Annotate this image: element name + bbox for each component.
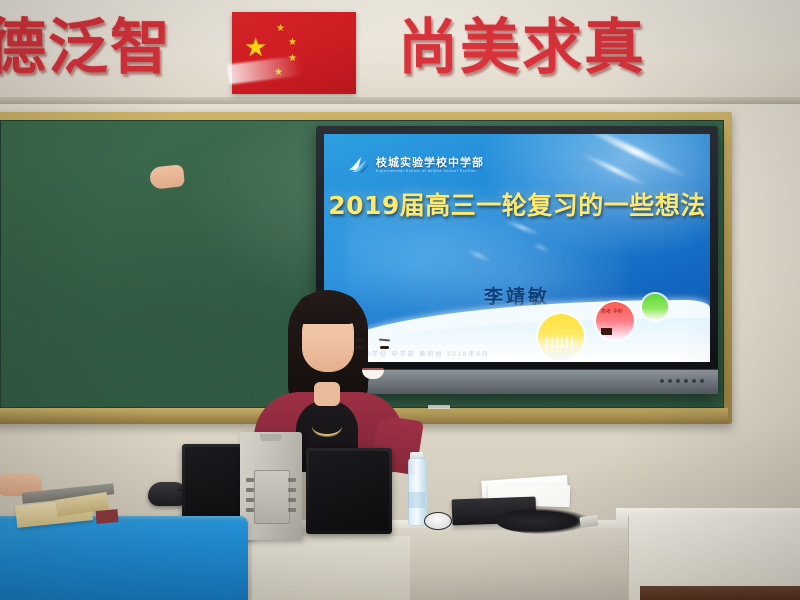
school-name-cn: 枝城实验学校中学部	[376, 157, 484, 168]
tower-vent	[246, 508, 254, 512]
necklace	[312, 416, 342, 436]
floor-strip	[640, 586, 800, 600]
slide-bubble-green	[642, 294, 668, 320]
school-name-en: Experimental School of Middle School Sec…	[376, 170, 484, 174]
bubble-red-text: 高考 冲刺	[601, 309, 623, 316]
tower-vent	[288, 478, 296, 482]
slide-title: 2019届高三一轮复习的一些想法	[324, 186, 710, 222]
slide-bubble-red: 高考 冲刺	[596, 302, 634, 340]
slide-bubble-yellow	[538, 314, 584, 360]
tower-vent	[288, 488, 296, 492]
flag-glare	[227, 56, 303, 85]
smartboard-button[interactable]	[700, 379, 704, 383]
hair-bangs	[296, 294, 360, 324]
tower-vent	[288, 498, 296, 502]
red-object	[95, 509, 118, 524]
flag-star-small-1: ★	[276, 24, 285, 34]
bubble-red-block	[601, 328, 612, 335]
flag-star-large: ★	[244, 34, 267, 60]
smartboard-button-row[interactable]	[660, 379, 704, 383]
tower-vent	[246, 488, 254, 492]
bottle-label	[408, 492, 425, 508]
eye-left	[355, 346, 364, 349]
classroom-photo: 德泛智 ★ ★ ★ ★ ★ 尚美求真	[0, 0, 800, 600]
monitor-right[interactable]	[306, 448, 392, 534]
tower-vent	[246, 478, 254, 482]
screen-glare	[580, 134, 689, 181]
blue-cabinet	[0, 520, 248, 600]
tower-vent	[288, 508, 296, 512]
right-hand	[149, 164, 185, 189]
smartboard-button[interactable]	[668, 379, 672, 383]
wall-slogan-left: 德泛智	[0, 18, 172, 78]
eye-right	[380, 346, 389, 349]
flag-star-small-2: ★	[288, 38, 297, 48]
cable-bundle	[496, 508, 590, 534]
school-logo-text: 枝城实验学校中学部 Experimental School of Middle …	[376, 157, 484, 174]
tower-side-panel	[254, 470, 290, 524]
tower-vent	[246, 498, 254, 502]
desktop-pc-tower[interactable]	[240, 432, 302, 540]
tower-top-notch	[260, 434, 282, 441]
bubble-rays	[546, 338, 576, 348]
school-logo-icon	[348, 156, 370, 174]
lectern-front-panel	[252, 536, 410, 600]
neck	[314, 382, 340, 406]
chalk-piece	[428, 405, 450, 409]
smartboard-button[interactable]	[684, 379, 688, 383]
mouth-smiling	[362, 368, 384, 379]
wall-slogan-right: 尚美求真	[398, 18, 646, 78]
round-desk-object	[424, 512, 452, 530]
smartboard-button[interactable]	[692, 379, 696, 383]
school-logo: 枝城实验学校中学部 Experimental School of Middle …	[348, 156, 484, 174]
smartboard-button[interactable]	[660, 379, 664, 383]
eyebrow-right	[379, 339, 390, 342]
china-flag-icon: ★ ★ ★ ★ ★	[232, 12, 356, 94]
smartboard-button[interactable]	[676, 379, 680, 383]
